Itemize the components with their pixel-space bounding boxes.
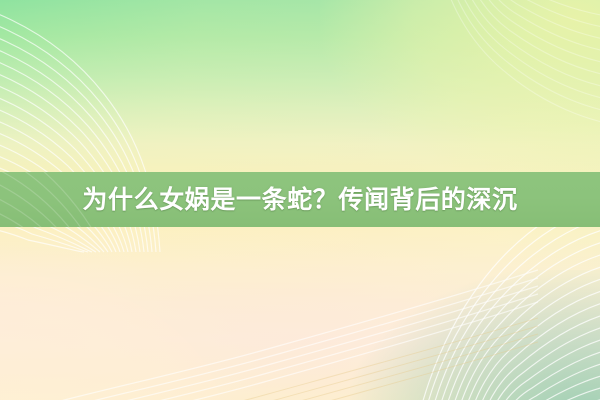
article-title-banner: 为什么女娲是一条蛇？传闻背后的深沉 [0, 0, 600, 400]
title-band: 为什么女娲是一条蛇？传闻背后的深沉 [0, 172, 600, 227]
page-title: 为什么女娲是一条蛇？传闻背后的深沉 [82, 187, 517, 212]
wash-top-right [320, 0, 600, 190]
wash-bottom-left [0, 250, 260, 400]
wash-bottom-right [350, 270, 600, 400]
